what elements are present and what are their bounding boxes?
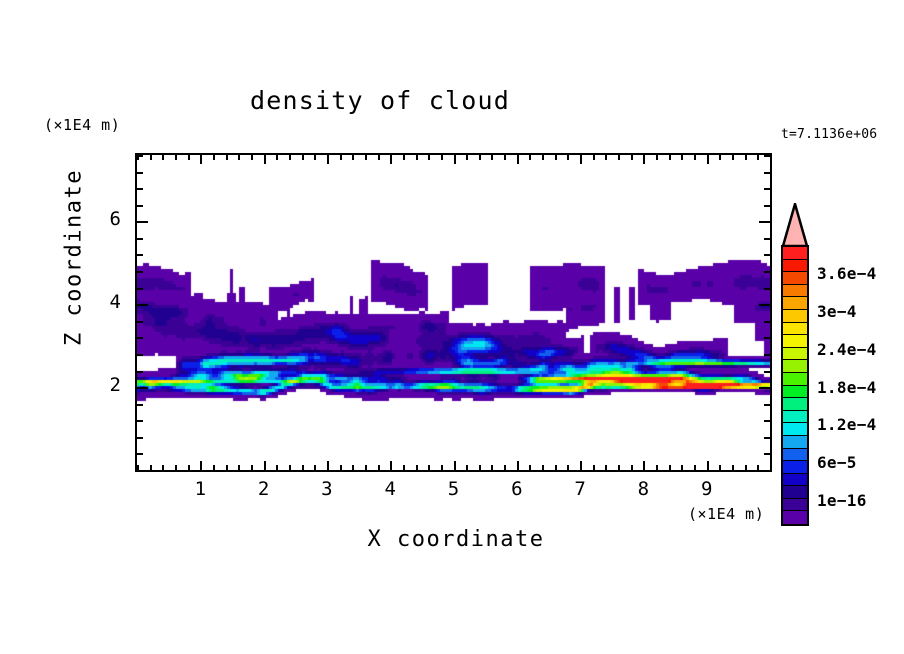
x-tick-label: 1 (180, 478, 220, 500)
y-minor-tick-right (764, 205, 770, 207)
y-minor-tick (137, 238, 143, 240)
x-minor-tick-top (428, 155, 430, 160)
x-minor-tick-top (302, 155, 304, 160)
x-minor-tick-top (365, 155, 367, 160)
x-tick-label: 3 (307, 478, 347, 500)
x-minor-tick-top (681, 155, 683, 160)
colorbar-swatch (783, 449, 807, 462)
x-major-tick (707, 461, 709, 470)
contour-plot-figure: density of cloud (×1E4 m) (×1E4 m) t=7.1… (0, 0, 904, 654)
x-minor-tick (150, 465, 152, 470)
x-tick-label: 4 (370, 478, 410, 500)
x-minor-tick-top (669, 155, 671, 160)
time-stamp-label: t=7.1136e+06 (781, 127, 877, 142)
colorbar-tick-label: 2.4e−4 (817, 340, 877, 359)
x-major-tick (454, 461, 456, 470)
x-minor-tick (378, 465, 380, 470)
x-minor-tick (213, 465, 215, 470)
x-minor-tick (542, 465, 544, 470)
x-minor-tick-top (529, 155, 531, 160)
x-minor-tick (251, 465, 253, 470)
x-tick-label: 6 (497, 478, 537, 500)
x-major-tick-top (643, 155, 645, 164)
x-minor-tick-top (162, 155, 164, 160)
colorbar-swatch (783, 461, 807, 474)
y-minor-tick-right (764, 271, 770, 273)
y-axis-title: Z coordinate (62, 168, 87, 348)
colorbar-swatch (783, 423, 807, 436)
y-minor-tick-right (764, 354, 770, 356)
y-minor-tick (137, 337, 143, 339)
colorbar-swatch (783, 386, 807, 399)
y-minor-tick (137, 172, 143, 174)
x-minor-tick (656, 465, 658, 470)
y-major-tick-right (759, 304, 770, 306)
colorbar-swatch (783, 360, 807, 373)
x-minor-tick-top (656, 155, 658, 160)
colorbar-tick-label: 3.6e−4 (817, 264, 877, 283)
y-major-tick (137, 387, 148, 389)
x-major-tick (390, 461, 392, 470)
x-minor-tick-top (605, 155, 607, 160)
x-minor-tick-top (593, 155, 595, 160)
colorbar-swatch (783, 348, 807, 361)
x-minor-tick (555, 465, 557, 470)
x-minor-tick (352, 465, 354, 470)
x-minor-tick-top (491, 155, 493, 160)
y-minor-tick (137, 205, 143, 207)
y-tick-label: 2 (81, 374, 121, 396)
x-minor-tick (188, 465, 190, 470)
x-major-tick-top (580, 155, 582, 164)
colorbar-swatch (783, 285, 807, 298)
x-minor-tick-top (251, 155, 253, 160)
x-minor-tick (770, 465, 772, 470)
colorbar-tick-label: 1.8e−4 (817, 378, 877, 397)
x-minor-tick-top (276, 155, 278, 160)
colorbar-tick-label: 1.2e−4 (817, 415, 877, 434)
x-minor-tick (441, 465, 443, 470)
x-minor-tick-top (150, 155, 152, 160)
y-minor-tick-right (764, 371, 770, 373)
x-minor-tick (289, 465, 291, 470)
y-minor-tick (137, 155, 143, 157)
colorbar-swatch (783, 247, 807, 260)
y-minor-tick-right (764, 337, 770, 339)
page-title: density of cloud (0, 86, 760, 115)
x-minor-tick (479, 465, 481, 470)
x-minor-tick-top (441, 155, 443, 160)
x-minor-tick (428, 465, 430, 470)
x-minor-tick-top (745, 155, 747, 160)
colorbar-tick-label: 1e−16 (817, 491, 867, 510)
x-minor-tick-top (757, 155, 759, 160)
x-tick-label: 2 (244, 478, 284, 500)
x-minor-tick (416, 465, 418, 470)
y-major-tick (137, 221, 148, 223)
y-minor-tick-right (764, 453, 770, 455)
y-minor-tick-right (764, 420, 770, 422)
y-minor-tick (137, 288, 143, 290)
x-minor-tick (631, 465, 633, 470)
colorbar-tick-label: 3e−4 (817, 302, 857, 321)
x-tick-label: 9 (687, 478, 727, 500)
colorbar-swatch (783, 260, 807, 273)
x-minor-tick-top (770, 155, 772, 160)
x-tick-label: 7 (560, 478, 600, 500)
x-minor-tick-top (378, 155, 380, 160)
colorbar-swatch (783, 297, 807, 310)
x-minor-tick (529, 465, 531, 470)
colorbar-swatch (783, 411, 807, 424)
x-major-tick-top (707, 155, 709, 164)
x-tick-label: 5 (434, 478, 474, 500)
x-minor-tick-top (238, 155, 240, 160)
colorbar-swatch-strip (781, 245, 809, 526)
y-major-tick-right (759, 387, 770, 389)
x-major-tick (580, 461, 582, 470)
x-minor-tick (238, 465, 240, 470)
x-minor-tick (593, 465, 595, 470)
x-minor-tick-top (226, 155, 228, 160)
x-minor-tick (745, 465, 747, 470)
colorbar-swatch (783, 335, 807, 348)
x-minor-tick-top (719, 155, 721, 160)
x-major-tick (200, 461, 202, 470)
x-minor-tick (162, 465, 164, 470)
x-minor-tick-top (567, 155, 569, 160)
x-major-tick-top (200, 155, 202, 164)
x-minor-tick (466, 465, 468, 470)
colorbar-extend-arrow-icon (781, 203, 809, 247)
x-major-tick-top (390, 155, 392, 164)
colorbar-swatch (783, 486, 807, 499)
colorbar-swatch (783, 310, 807, 323)
x-minor-tick-top (618, 155, 620, 160)
x-major-tick (517, 461, 519, 470)
colorbar-swatch (783, 398, 807, 411)
y-major-tick (137, 304, 148, 306)
colorbar-swatch (783, 499, 807, 512)
x-minor-tick-top (416, 155, 418, 160)
y-minor-tick (137, 420, 143, 422)
x-minor-tick (567, 465, 569, 470)
x-minor-tick (504, 465, 506, 470)
x-major-tick (643, 461, 645, 470)
y-minor-tick-right (764, 254, 770, 256)
x-major-tick-top (517, 155, 519, 164)
x-minor-tick-top (466, 155, 468, 160)
x-minor-tick-top (289, 155, 291, 160)
y-major-tick-right (759, 221, 770, 223)
y-minor-tick-right (764, 172, 770, 174)
y-minor-tick (137, 453, 143, 455)
y-minor-tick (137, 188, 143, 190)
colorbar-swatch (783, 272, 807, 285)
x-axis-title: X coordinate (236, 527, 676, 552)
x-minor-tick (340, 465, 342, 470)
y-tick-label: 6 (81, 208, 121, 230)
x-minor-tick (175, 465, 177, 470)
x-minor-tick-top (631, 155, 633, 160)
x-minor-tick (618, 465, 620, 470)
plot-area (135, 153, 772, 472)
colorbar-tick-label: 6e−5 (817, 453, 857, 472)
x-minor-tick (732, 465, 734, 470)
x-minor-tick (719, 465, 721, 470)
x-minor-tick-top (403, 155, 405, 160)
y-minor-tick (137, 371, 143, 373)
x-minor-tick (681, 465, 683, 470)
x-minor-tick (276, 465, 278, 470)
x-minor-tick-top (542, 155, 544, 160)
x-minor-tick (669, 465, 671, 470)
x-major-tick (264, 461, 266, 470)
x-minor-tick-top (175, 155, 177, 160)
x-minor-tick-top (694, 155, 696, 160)
colorbar-swatch (783, 511, 807, 524)
y-axis-unit-label: (×1E4 m) (44, 116, 120, 134)
colorbar-swatch (783, 373, 807, 386)
y-minor-tick (137, 404, 143, 406)
x-minor-tick-top (555, 155, 557, 160)
x-major-tick (327, 461, 329, 470)
x-minor-tick-top (352, 155, 354, 160)
x-minor-tick (365, 465, 367, 470)
x-minor-tick-top (213, 155, 215, 160)
y-minor-tick-right (764, 155, 770, 157)
x-minor-tick (302, 465, 304, 470)
x-minor-tick-top (188, 155, 190, 160)
x-minor-tick-top (314, 155, 316, 160)
x-minor-tick (314, 465, 316, 470)
x-axis-unit-label: (×1E4 m) (688, 505, 764, 523)
y-minor-tick-right (764, 188, 770, 190)
x-major-tick-top (327, 155, 329, 164)
y-minor-tick-right (764, 288, 770, 290)
x-minor-tick (491, 465, 493, 470)
x-minor-tick (757, 465, 759, 470)
x-minor-tick-top (479, 155, 481, 160)
x-minor-tick (403, 465, 405, 470)
y-minor-tick (137, 470, 143, 472)
x-minor-tick-top (732, 155, 734, 160)
x-minor-tick (226, 465, 228, 470)
y-minor-tick (137, 254, 143, 256)
colorbar-swatch (783, 436, 807, 449)
y-minor-tick-right (764, 470, 770, 472)
y-minor-tick (137, 354, 143, 356)
x-major-tick-top (264, 155, 266, 164)
y-minor-tick (137, 437, 143, 439)
y-minor-tick (137, 321, 143, 323)
x-minor-tick (605, 465, 607, 470)
y-minor-tick-right (764, 238, 770, 240)
colorbar-swatch (783, 323, 807, 336)
y-minor-tick-right (764, 321, 770, 323)
colorbar-swatch (783, 474, 807, 487)
x-tick-label: 8 (623, 478, 663, 500)
density-field-canvas (137, 155, 770, 470)
y-minor-tick-right (764, 437, 770, 439)
x-minor-tick (694, 465, 696, 470)
x-minor-tick-top (340, 155, 342, 160)
y-minor-tick (137, 271, 143, 273)
y-tick-label: 4 (81, 291, 121, 313)
y-minor-tick-right (764, 404, 770, 406)
x-minor-tick-top (504, 155, 506, 160)
x-major-tick-top (454, 155, 456, 164)
